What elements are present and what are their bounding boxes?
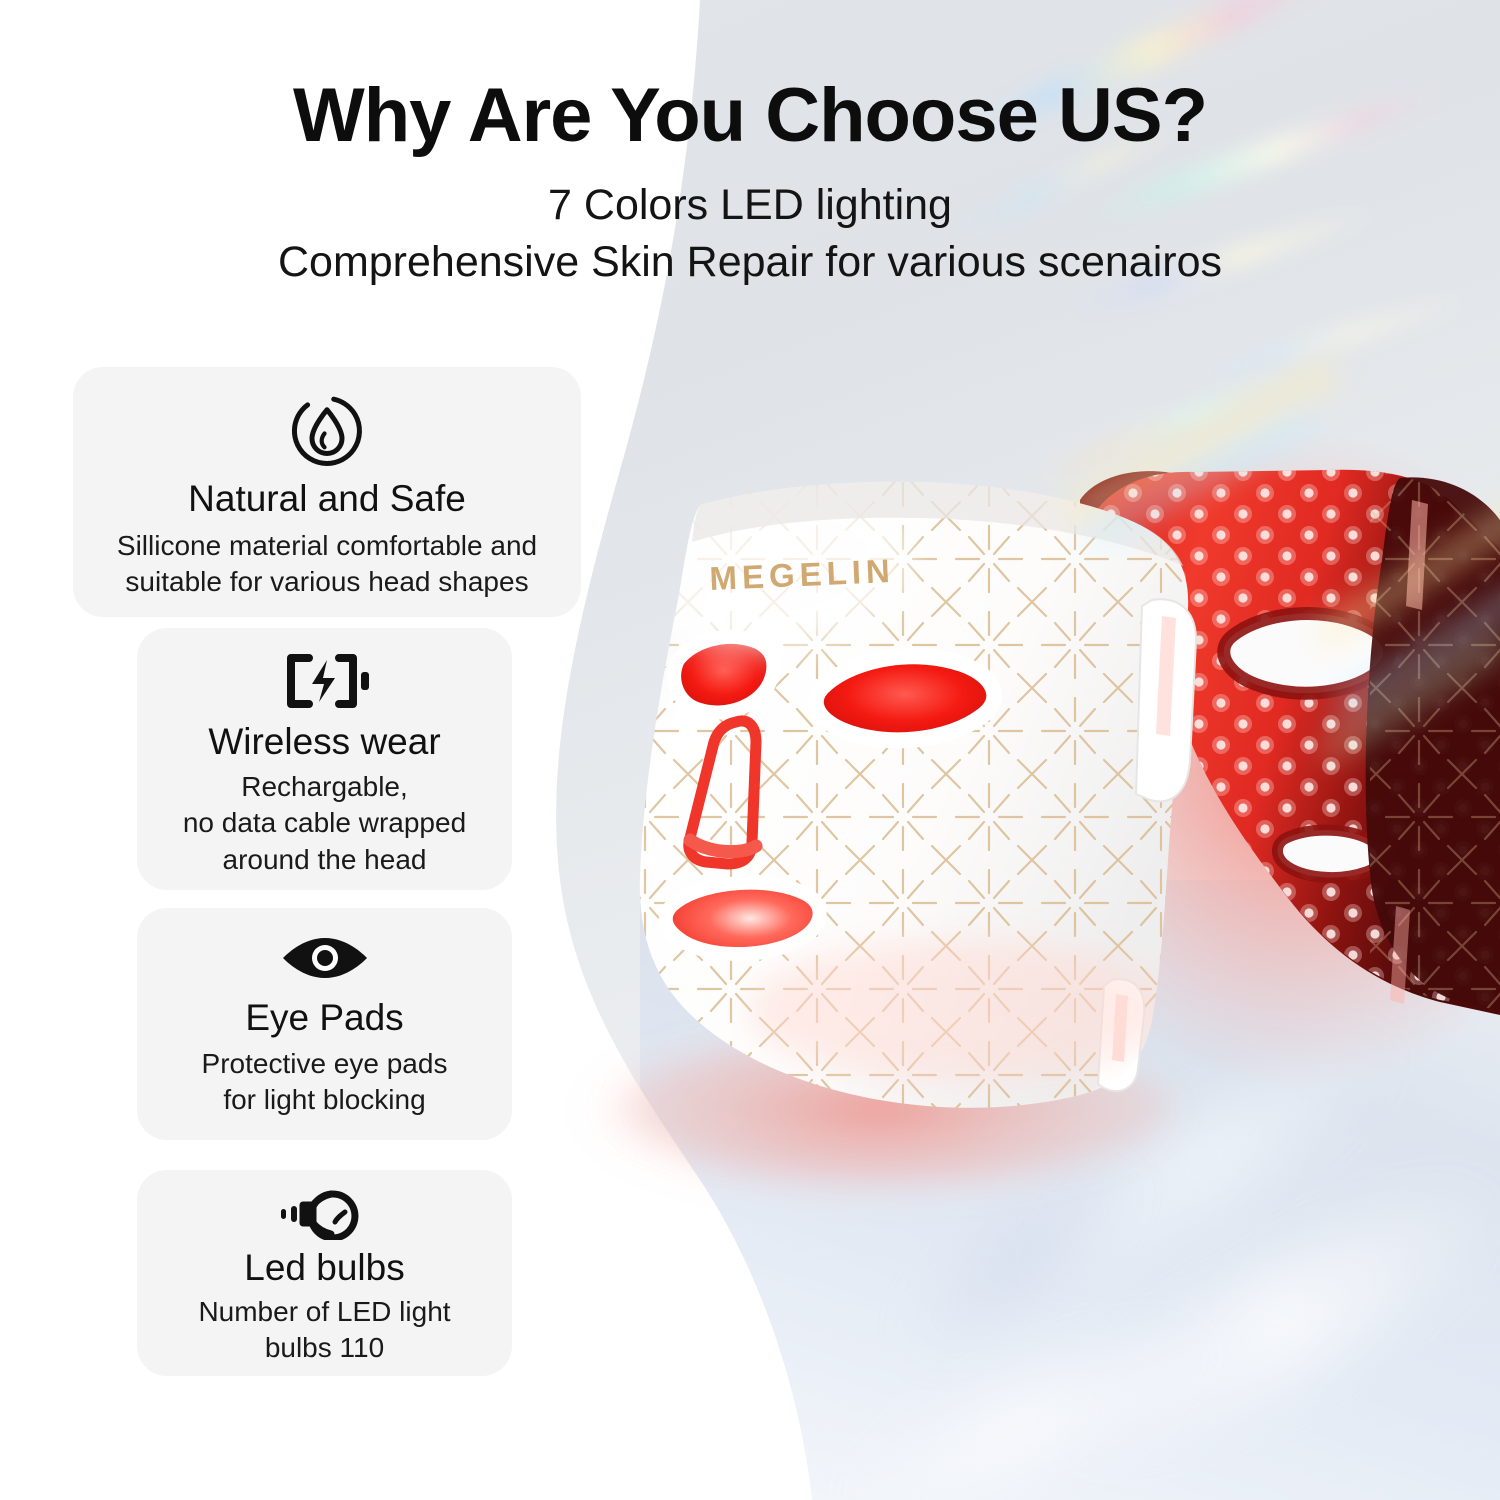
led-bulb-icon [137,1188,512,1240]
feature-title: Wireless wear [137,722,512,763]
feature-card-wireless-wear[interactable]: Wireless wear Rechargable, no data cable… [137,628,512,890]
feature-description-line-1: Sillicone material comfortable and [73,529,581,564]
water-drop-circle-icon [73,391,581,471]
subtitle-line-2: Comprehensive Skin Repair for various sc… [0,237,1500,288]
feature-description-line-3: around the head [137,843,512,878]
feature-description-line-1: Rechargable, [137,770,512,805]
feature-card-eye-pads[interactable]: Eye Pads Protective eye pads for light b… [137,908,512,1140]
page-title: Why Are You Choose US? [0,78,1500,154]
feature-card-natural-and-safe[interactable]: Natural and Safe Sillicone material comf… [73,367,581,617]
header-block: Why Are You Choose US? 7 Colors LED ligh… [0,78,1500,287]
feature-description-line-2: bulbs 110 [137,1331,512,1366]
feature-description-line-2: for light blocking [137,1083,512,1118]
eye-icon [137,932,512,984]
feature-description-line-1: Protective eye pads [137,1047,512,1082]
feature-title: Eye Pads [137,998,512,1039]
feature-description-line-2: suitable for various head shapes [73,565,581,600]
infographic-canvas: MEGELIN Why Are You Choose US? 7 Colors … [0,0,1500,1500]
feature-title: Led bulbs [137,1248,512,1289]
feature-description-line-2: no data cable wrapped [137,806,512,841]
battery-charging-icon [137,650,512,712]
feature-description-line-1: Number of LED light [137,1295,512,1330]
feature-title: Natural and Safe [73,479,581,520]
subtitle-line-1: 7 Colors LED lighting [0,180,1500,231]
feature-card-led-bulbs[interactable]: Led bulbs Number of LED light bulbs 110 [137,1170,512,1376]
